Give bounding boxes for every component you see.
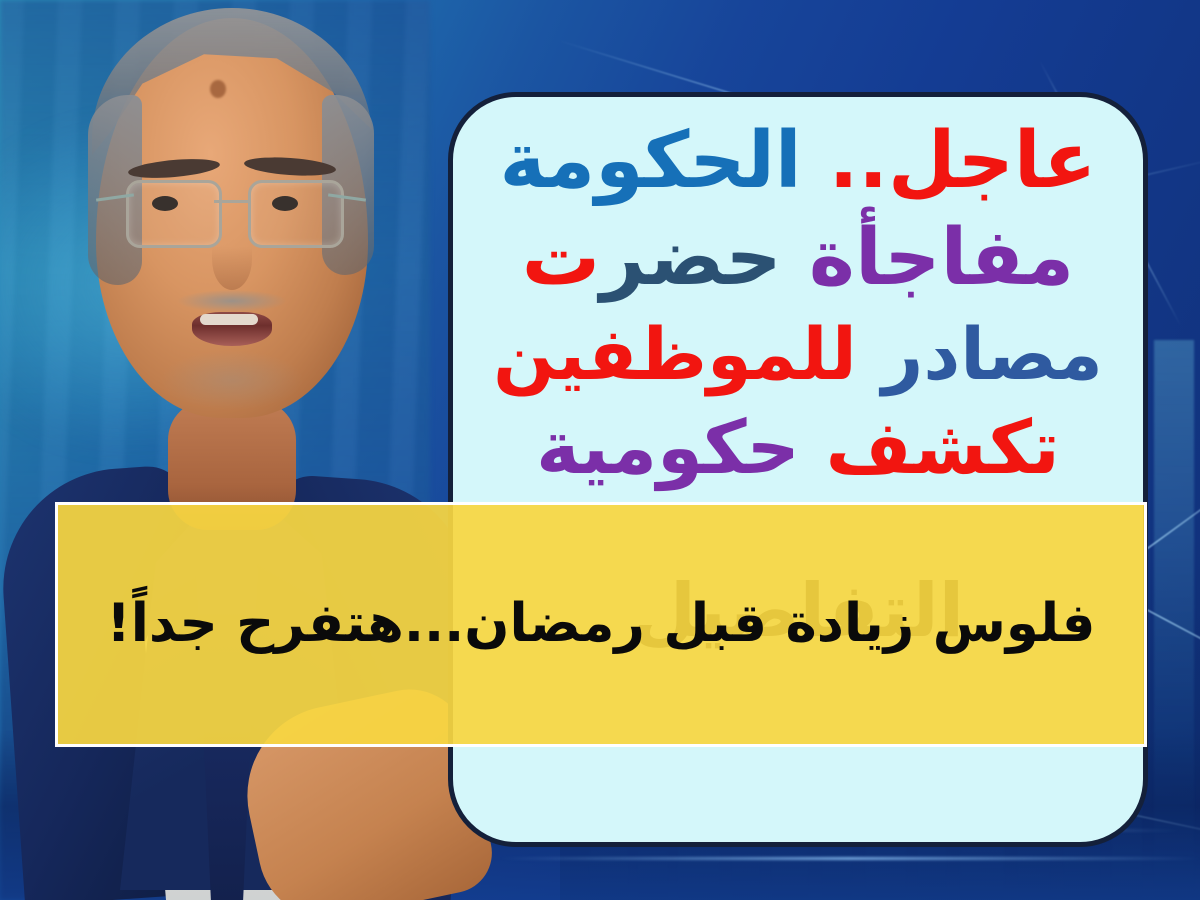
headline-segment-urgent: عاجل.. (829, 116, 1097, 206)
presenter-figure (0, 0, 470, 900)
presenter-moustache (178, 290, 286, 312)
headline-line-4: تكشف حكومية (453, 410, 1143, 487)
presenter-chin-shadow (160, 350, 304, 410)
overlay-banner: فلوس زيادة قبل رمضان...هتفرح جداً! (55, 502, 1147, 747)
overlay-banner-text: فلوس زيادة قبل رمضان...هتفرح جداً! (81, 593, 1122, 656)
presenter-nose (212, 228, 252, 290)
headline-segment-sources: مصادر (882, 312, 1103, 396)
headline-line-1: عاجل.. الحكومة (453, 121, 1143, 202)
headline-segment-employees: للموظفين (493, 312, 857, 396)
presenter-glasses-bridge (214, 200, 248, 203)
thumbnail-canvas: عاجل.. الحكومة مفاجأة حضرت مصادر للموظفي… (0, 0, 1200, 900)
headline-segment-prepares-prefix: ت (522, 213, 600, 303)
headline-segment-reveal: تكشف (826, 405, 1060, 491)
headline-segment-official: حكومية (536, 405, 800, 491)
headline-segment-government: الحكومة (500, 116, 802, 206)
headline-line-2: مفاجأة حضرت (453, 218, 1143, 299)
headline-segment-surprise: مفاجأة (809, 213, 1074, 303)
presenter-teeth (200, 314, 258, 325)
presenter-glasses-lens-right (248, 180, 344, 248)
headline-segment-prepares: حضر (600, 213, 782, 303)
presenter-glasses-lens-left (126, 180, 222, 248)
presenter-forehead-mark (210, 80, 226, 98)
headline-line-3: مصادر للموظفين (453, 317, 1143, 392)
